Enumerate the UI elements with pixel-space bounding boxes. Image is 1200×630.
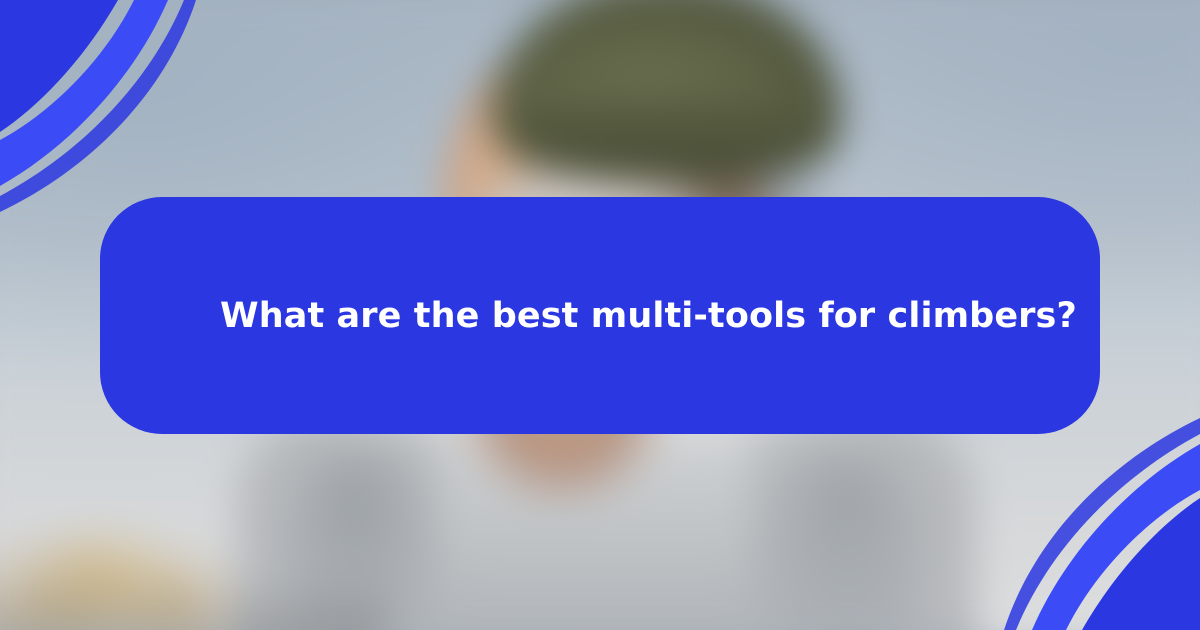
poster-canvas: What are the best multi-tools for climbe… [0, 0, 1200, 630]
shoulder-right-shadow [748, 421, 992, 630]
beanie-brim-shape [499, 98, 838, 183]
question-card: What are the best multi-tools for climbe… [100, 197, 1100, 434]
bottom-shadow [0, 575, 388, 630]
question-card-content: What are the best multi-tools for climbe… [220, 197, 980, 434]
question-title: What are the best multi-tools for climbe… [220, 295, 1077, 337]
